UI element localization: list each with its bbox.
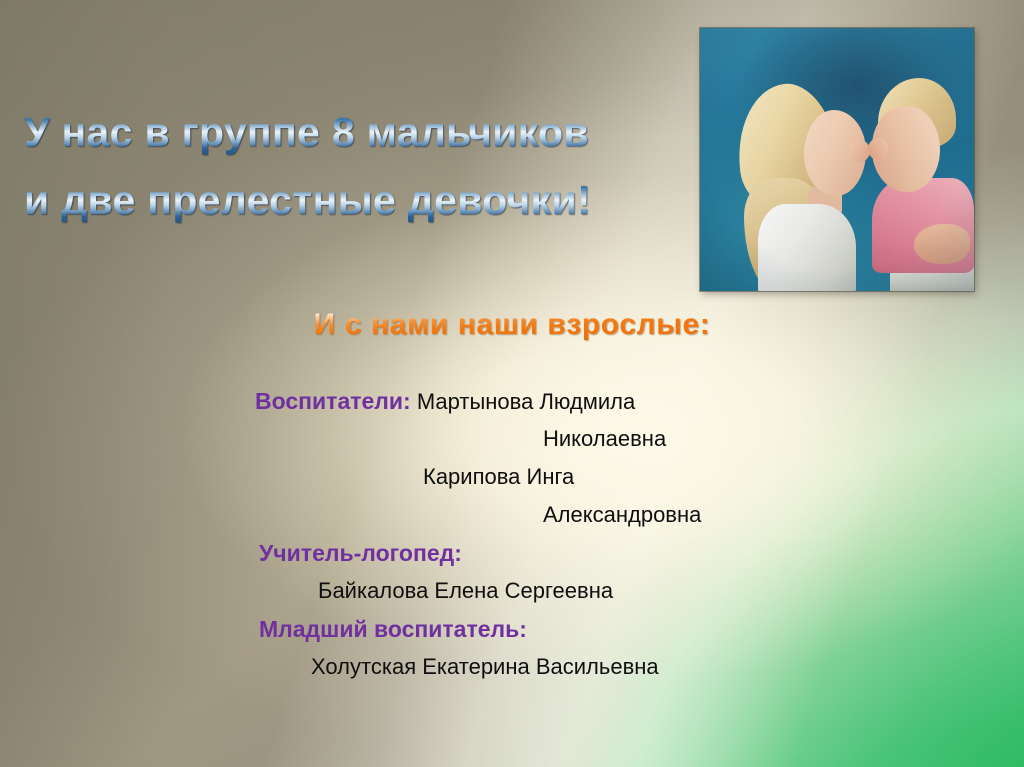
staff-row: Учитель-логопед: [0,534,1024,572]
staff-name: Холутская Екатерина Васильевна [311,654,659,679]
staff-name: Александровна [543,502,701,527]
staff-role-label: Воспитатели: [255,388,411,414]
staff-row: Воспитатели: Мартынова Людмила [0,382,1024,420]
staff-name: Николаевна [543,426,666,451]
staff-role-label: Учитель-логопед: [259,540,462,566]
staff-row: Младший воспитатель: [0,610,1024,648]
staff-row: Александровна [0,496,1024,534]
staff-row: Байкалова Елена Сергеевна [0,572,1024,610]
staff-role-label: Младший воспитатель: [259,616,527,642]
staff-list: Воспитатели: Мартынова Людмила Николаевн… [0,382,1024,686]
staff-name: Байкалова Елена Сергеевна [318,578,613,603]
staff-row: Николаевна [0,420,1024,458]
subtitle-text: И с нами наши взрослые: [314,308,711,342]
staff-name: Мартынова Людмила [417,389,635,414]
photo-soft-overlay [700,28,974,291]
children-photo [700,28,974,291]
staff-row: Холутская Екатерина Васильевна [0,648,1024,686]
staff-name: Карипова Инга [423,464,574,489]
slide-title: У нас в группе 8 мальчиков и две прелест… [24,98,724,234]
staff-row: Карипова Инга [0,458,1024,496]
title-line-2: и две прелестные девочки! [24,166,724,234]
presentation-slide: У нас в группе 8 мальчиков и две прелест… [0,0,1024,767]
title-line-1: У нас в группе 8 мальчиков [24,98,724,166]
slide-subtitle: И с нами наши взрослые: [0,308,1024,342]
